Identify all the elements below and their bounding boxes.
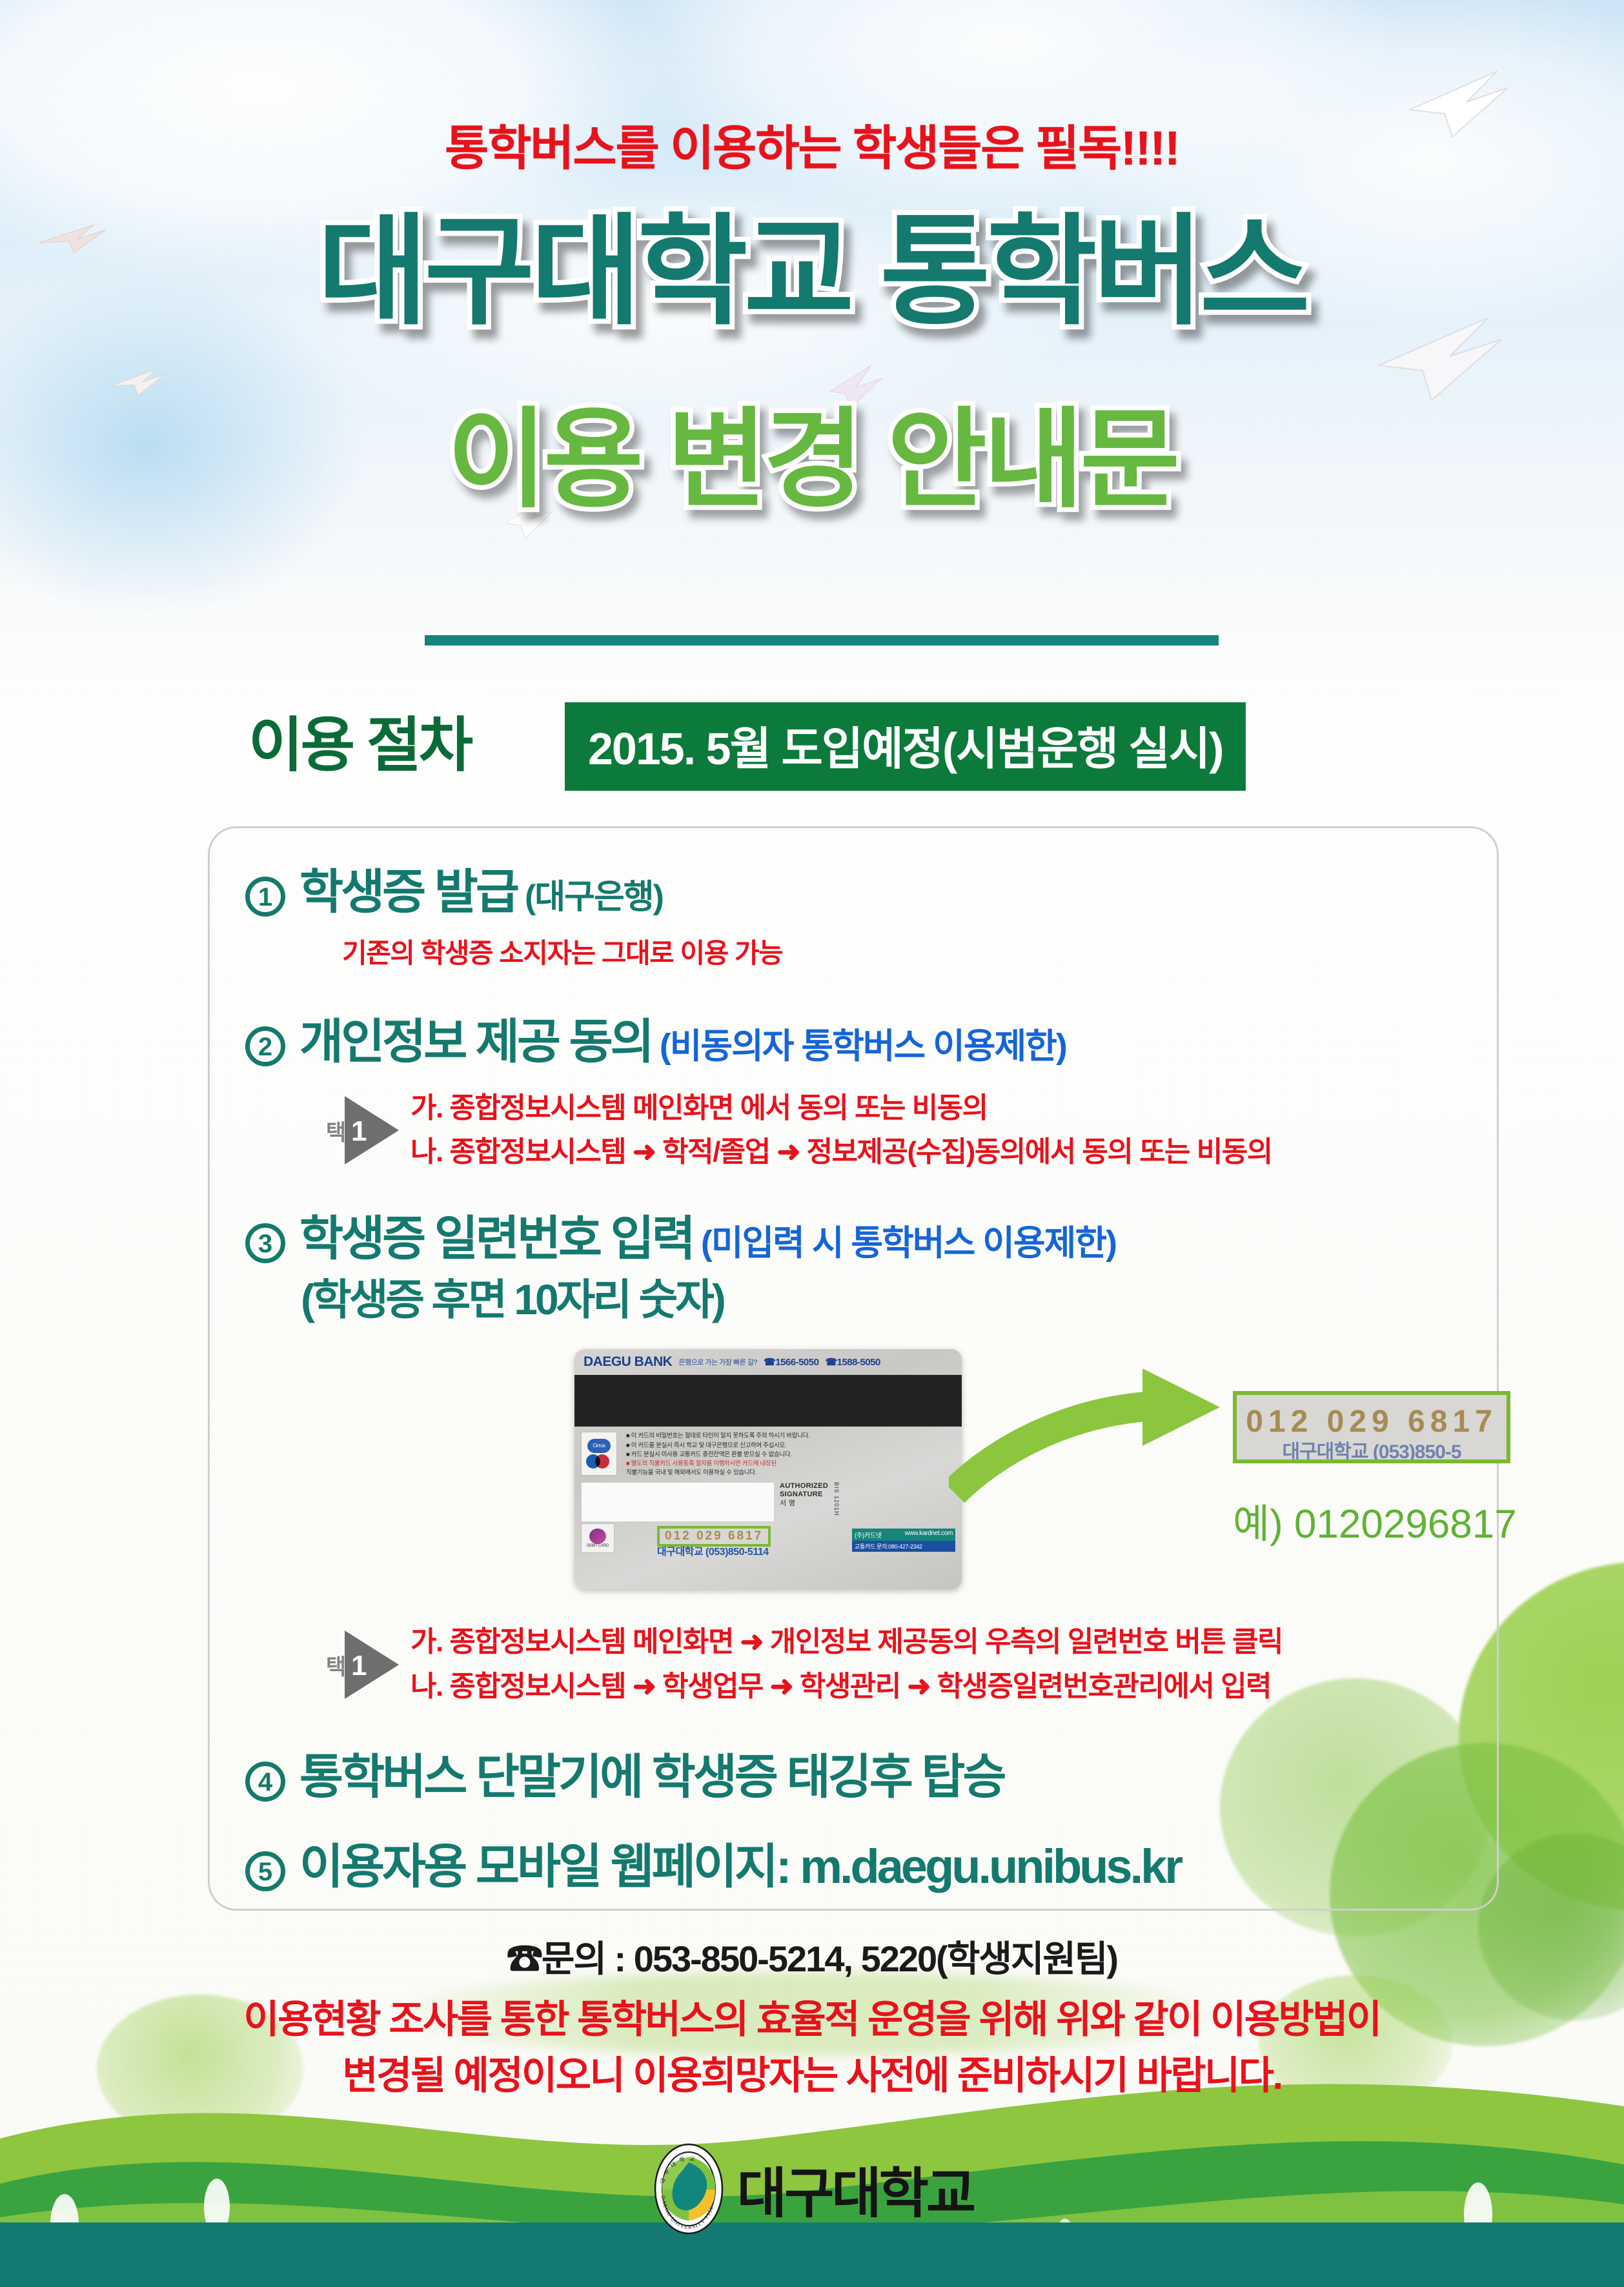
step-number-badge: 5 xyxy=(245,1851,285,1891)
choose-one-marker: 택 1 xyxy=(323,1096,399,1164)
choose-arrow-icon: 1 xyxy=(345,1096,399,1164)
step-4-head: 4 통학버스 단말기에 학생증 태깅후 탑승 xyxy=(245,1738,1497,1807)
step-2-choose-block: 택 1 가. 종합정보시스템 메인화면 에서 동의 또는 비동의 나. 종합정보… xyxy=(323,1086,1497,1174)
step-item-2: 2 개인정보 제공 동의 (비동의자 통학버스 이용제한) 택 1 가. 종합정… xyxy=(245,1003,1497,1174)
card-bis-code: BIS 1201H xyxy=(833,1482,840,1516)
card-notice-line: 직불기능을 국내 및 해외에서도 이용하실 수 있습니다. xyxy=(626,1469,955,1478)
step-2-title: 개인정보 제공 동의 xyxy=(299,1003,652,1072)
step-1-head: 1 학생증 발급 (대구은행) xyxy=(245,853,1497,922)
step-3-title: 학생증 일련번호 입력 xyxy=(299,1200,693,1269)
step-2-option-b: 나. 종합정보시스템 ➜ 학적/졸업 ➜ 정보제공(수집)동의에서 동의 또는 … xyxy=(411,1130,1272,1174)
title-divider xyxy=(425,635,1219,645)
step-2-options: 가. 종합정보시스템 메인화면 에서 동의 또는 비동의 나. 종합정보시스템 … xyxy=(411,1086,1272,1174)
poster-title-line1: 대구대학교 통학버스 xyxy=(0,210,1624,334)
callout-serial-number: 012 029 6817 xyxy=(1237,1395,1507,1439)
daegu-university-logo: 대 구 대 학 교 DAEGU UNIVERSITY 1956 xyxy=(651,2143,727,2235)
step-3-options: 가. 종합정보시스템 메인화면 ➜ 개인정보 제공동의 우측의 일련번호 버튼 … xyxy=(411,1620,1283,1708)
card-notice-line-red: ■ 별도의 직불카드 사용등록 절차를 이행하시면 카드에 내장된 xyxy=(626,1459,955,1469)
step-3-paren: (미입력 시 통학버스 이용제한) xyxy=(701,1214,1116,1265)
card-network-logos: Cirrus xyxy=(581,1432,620,1478)
contact-line: ☎문의 : 053-850-5214, 5220(학생지원팀) xyxy=(0,1930,1624,1982)
choose-arrow-icon: 1 xyxy=(345,1631,399,1699)
card-signature-row: AUTHORIZED SIGNATURE 서 명 BIS 1201H xyxy=(574,1478,962,1522)
serial-example-text: 예) 0120296817 xyxy=(1233,1491,1517,1549)
step-4-title: 통학버스 단말기에 학생증 태깅후 탑승 xyxy=(299,1738,1004,1807)
auth-line-1: AUTHORIZED xyxy=(780,1482,828,1491)
card-signature-panel xyxy=(581,1482,775,1522)
step-3-subtitle: (학생증 후면 10자리 숫자) xyxy=(301,1265,1497,1327)
debit-swirl-icon xyxy=(589,1529,606,1544)
card-notice-line: ■ 이 카드를 분실시 즉시 학교 및 대구은행으로 신고하여 주십시오. xyxy=(626,1441,955,1450)
debit-card-logo: DEBIT CARD xyxy=(581,1523,614,1553)
card-bottom-row: DEBIT CARD 012 029 6817 대구대학교 (053)850-5… xyxy=(574,1522,962,1557)
step-1-title: 학생증 발급 xyxy=(299,853,517,922)
kardnet-name: (주)카드넷 xyxy=(855,1530,882,1540)
card-header: DAEGU BANK 은행으로 가는 가장 빠른 길? ☎1566-5050 ☎… xyxy=(574,1349,962,1375)
step-number-badge: 4 xyxy=(245,1762,285,1802)
bank-card-back-image: DAEGU BANK 은행으로 가는 가장 빠른 길? ☎1566-5050 ☎… xyxy=(574,1349,962,1589)
kardnet-row-1: (주)카드넷 www.kardnet.com xyxy=(852,1529,955,1541)
card-auth-label: AUTHORIZED SIGNATURE 서 명 xyxy=(780,1482,828,1509)
step-5-head: 5 이용자용 모바일 웹페이지: m.daegu.unibus.kr xyxy=(245,1828,1497,1897)
step-2-option-a: 가. 종합정보시스템 메인화면 에서 동의 또는 비동의 xyxy=(411,1086,1272,1130)
step-item-4: 4 통학버스 단말기에 학생증 태깅후 탑승 xyxy=(245,1738,1497,1807)
auth-line-3: 서 명 xyxy=(780,1499,795,1507)
step-2-head: 2 개인정보 제공 동의 (비동의자 통학버스 이용제한) xyxy=(245,1003,1497,1072)
card-middle: Cirrus ■ 이 카드의 비밀번호는 절대로 타인이 알지 못하도록 주의 … xyxy=(574,1427,962,1478)
step-3-option-a: 가. 종합정보시스템 메인화면 ➜ 개인정보 제공동의 우측의 일련번호 버튼 … xyxy=(411,1620,1283,1664)
curved-arrow-icon xyxy=(949,1356,1259,1514)
poster-title-line2: 이용 변경 안내문 xyxy=(0,403,1624,516)
card-magnetic-stripe xyxy=(574,1375,962,1427)
card-serial-number: 012 029 6817 xyxy=(665,1529,763,1543)
step-3-head: 3 학생증 일련번호 입력 (미입력 시 통학버스 이용제한) xyxy=(245,1200,1497,1269)
card-university-line: 대구대학교 (053)850-5114 xyxy=(657,1543,769,1558)
callout-ghost-line: 대구대학교 (053)850-5 xyxy=(1237,1436,1507,1463)
step-item-3: 3 학생증 일련번호 입력 (미입력 시 통학버스 이용제한) (학생증 후면 … xyxy=(245,1200,1497,1708)
kicker-text: 통학버스를 이용하는 학생들은 필독!!!! xyxy=(0,110,1624,179)
student-card-illustration: DAEGU BANK 은행으로 가는 가장 빠른 길? ☎1566-5050 ☎… xyxy=(284,1336,1497,1614)
section-label: 이용 절차 xyxy=(249,697,471,783)
step-3-option-b: 나. 종합정보시스템 ➜ 학생업무 ➜ 학생관리 ➜ 학생증일련번호관리에서 입… xyxy=(411,1665,1283,1709)
closing-line-1: 이용현황 조사를 통한 통학버스의 효율적 운영을 위해 위와 같이 이용방법이 xyxy=(0,1991,1624,2048)
step-item-5: 5 이용자용 모바일 웹페이지: m.daegu.unibus.kr xyxy=(245,1828,1497,1897)
step-number-badge: 1 xyxy=(245,877,285,917)
card-tel-2: ☎1588-5050 xyxy=(825,1356,880,1368)
kardnet-block: (주)카드넷 www.kardnet.com 교통카드 문의:080-427-2… xyxy=(852,1529,955,1552)
section-badge: 2015. 5월 도입예정(시범운행 실시) xyxy=(565,702,1246,791)
maestro-icon xyxy=(586,1454,612,1469)
choose-count: 1 xyxy=(351,1650,367,1682)
choose-count: 1 xyxy=(351,1115,367,1148)
serial-callout-box: 012 029 6817 대구대학교 (053)850-5 xyxy=(1233,1391,1510,1463)
closing-line-2: 변경될 예정이오니 이용희망자는 사전에 준비하시기 바랍니다. xyxy=(0,2048,1624,2104)
step-1-paren: (대구은행) xyxy=(525,869,663,918)
cirrus-icon: Cirrus xyxy=(587,1439,611,1453)
auth-line-2: SIGNATURE xyxy=(780,1490,828,1499)
step-number-badge: 2 xyxy=(245,1026,285,1066)
step-number-badge: 3 xyxy=(245,1223,285,1263)
university-name: 대구대학교 xyxy=(737,2150,973,2228)
step-1-note: 기존의 학생증 소지자는 그대로 이용 가능 xyxy=(342,931,1497,971)
kardnet-url: www.kardnet.com xyxy=(905,1530,953,1540)
steps-list: 1 학생증 발급 (대구은행) 기존의 학생증 소지자는 그대로 이용 가능 2… xyxy=(245,853,1497,1897)
university-brand: 대 구 대 학 교 DAEGU UNIVERSITY 1956 대구대학교 xyxy=(0,2143,1624,2235)
card-slogan: 은행으로 가는 가장 빠른 길? xyxy=(678,1357,757,1367)
choose-one-marker: 택 1 xyxy=(323,1631,399,1699)
poster-content: 통학버스를 이용하는 학생들은 필독!!!! 대구대학교 통학버스 이용 변경 … xyxy=(0,0,1624,2287)
step-item-1: 1 학생증 발급 (대구은행) 기존의 학생증 소지자는 그대로 이용 가능 xyxy=(245,853,1497,971)
choose-label: 택 xyxy=(323,1121,345,1140)
cirrus-maestro-logo-box: Cirrus xyxy=(581,1432,617,1476)
card-notice-line: ■ 이 카드의 비밀번호는 절대로 타인이 알지 못하도록 주의 하시기 바랍니… xyxy=(626,1432,955,1441)
card-bank-name: DAEGU BANK xyxy=(584,1354,672,1370)
step-5-title: 이용자용 모바일 웹페이지: m.daegu.unibus.kr xyxy=(299,1828,1181,1897)
step-3-choose-block: 택 1 가. 종합정보시스템 메인화면 ➜ 개인정보 제공동의 우측의 일련번호… xyxy=(323,1620,1497,1708)
kardnet-row-2: 교통카드 문의:080-427-2342 xyxy=(852,1541,955,1552)
card-notice-line: ■ 카드 분실시 미사용 교통카드 충전잔액은 환불 받으실 수 없습니다. xyxy=(626,1450,955,1459)
step-2-paren: (비동의자 통학버스 이용제한) xyxy=(660,1017,1066,1068)
debit-label: DEBIT CARD xyxy=(587,1544,609,1548)
card-notice-text: ■ 이 카드의 비밀번호는 절대로 타인이 알지 못하도록 주의 하시기 바랍니… xyxy=(626,1432,955,1478)
closing-message: 이용현황 조사를 통한 통학버스의 효율적 운영을 위해 위와 같이 이용방법이… xyxy=(0,1991,1624,2104)
choose-label: 택 xyxy=(323,1655,345,1674)
card-tel-1: ☎1566-5050 xyxy=(764,1356,818,1368)
